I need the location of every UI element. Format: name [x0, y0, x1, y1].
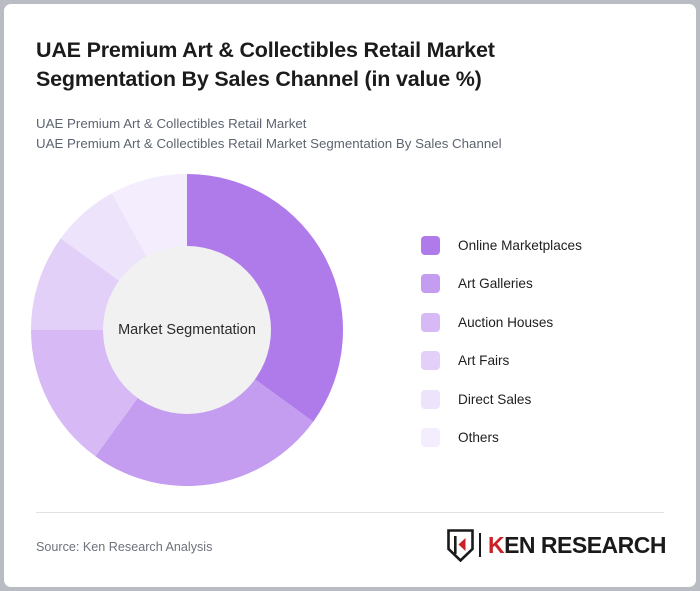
legend-label: Art Galleries — [458, 276, 533, 291]
legend-label: Online Marketplaces — [458, 238, 582, 253]
chart-card: UAE Premium Art & Collectibles Retail Ma… — [4, 4, 696, 587]
legend-item[interactable]: Online Marketplaces — [421, 226, 671, 265]
legend-swatch-icon — [421, 274, 440, 293]
legend-label: Others — [458, 430, 499, 445]
subtitle-block: UAE Premium Art & Collectibles Retail Ma… — [36, 114, 636, 154]
donut-svg — [31, 174, 343, 486]
logo-wordmark-accent: K — [488, 532, 504, 558]
source-note: Source: Ken Research Analysis — [36, 540, 212, 554]
legend-item[interactable]: Others — [421, 419, 671, 458]
legend-item[interactable]: Art Fairs — [421, 342, 671, 381]
chart-legend: Online MarketplacesArt GalleriesAuction … — [421, 226, 671, 457]
legend-label: Art Fairs — [458, 353, 509, 368]
page-title: UAE Premium Art & Collectibles Retail Ma… — [36, 36, 636, 94]
logo-wordmark-rest: EN RESEARCH — [504, 532, 666, 558]
legend-swatch-icon — [421, 428, 440, 447]
legend-swatch-icon — [421, 236, 440, 255]
logo-wordmark: KEN RESEARCH — [488, 532, 666, 559]
legend-swatch-icon — [421, 351, 440, 370]
ken-research-logo: KEN RESEARCH — [447, 528, 666, 562]
ken-research-shield-icon — [447, 529, 474, 562]
legend-label: Direct Sales — [458, 392, 531, 407]
legend-item[interactable]: Direct Sales — [421, 380, 671, 419]
subtitle-segmentation: UAE Premium Art & Collectibles Retail Ma… — [36, 134, 636, 154]
subtitle-market: UAE Premium Art & Collectibles Retail Ma… — [36, 114, 636, 134]
chart-area: Market Segmentation Online MarketplacesA… — [4, 164, 696, 494]
legend-label: Auction Houses — [458, 315, 553, 330]
donut-hole — [103, 246, 271, 414]
legend-item[interactable]: Auction Houses — [421, 303, 671, 342]
legend-item[interactable]: Art Galleries — [421, 265, 671, 304]
legend-swatch-icon — [421, 313, 440, 332]
legend-swatch-icon — [421, 390, 440, 409]
footer-divider — [36, 512, 664, 513]
logo-separator — [479, 533, 481, 557]
donut-chart: Market Segmentation — [31, 174, 343, 486]
